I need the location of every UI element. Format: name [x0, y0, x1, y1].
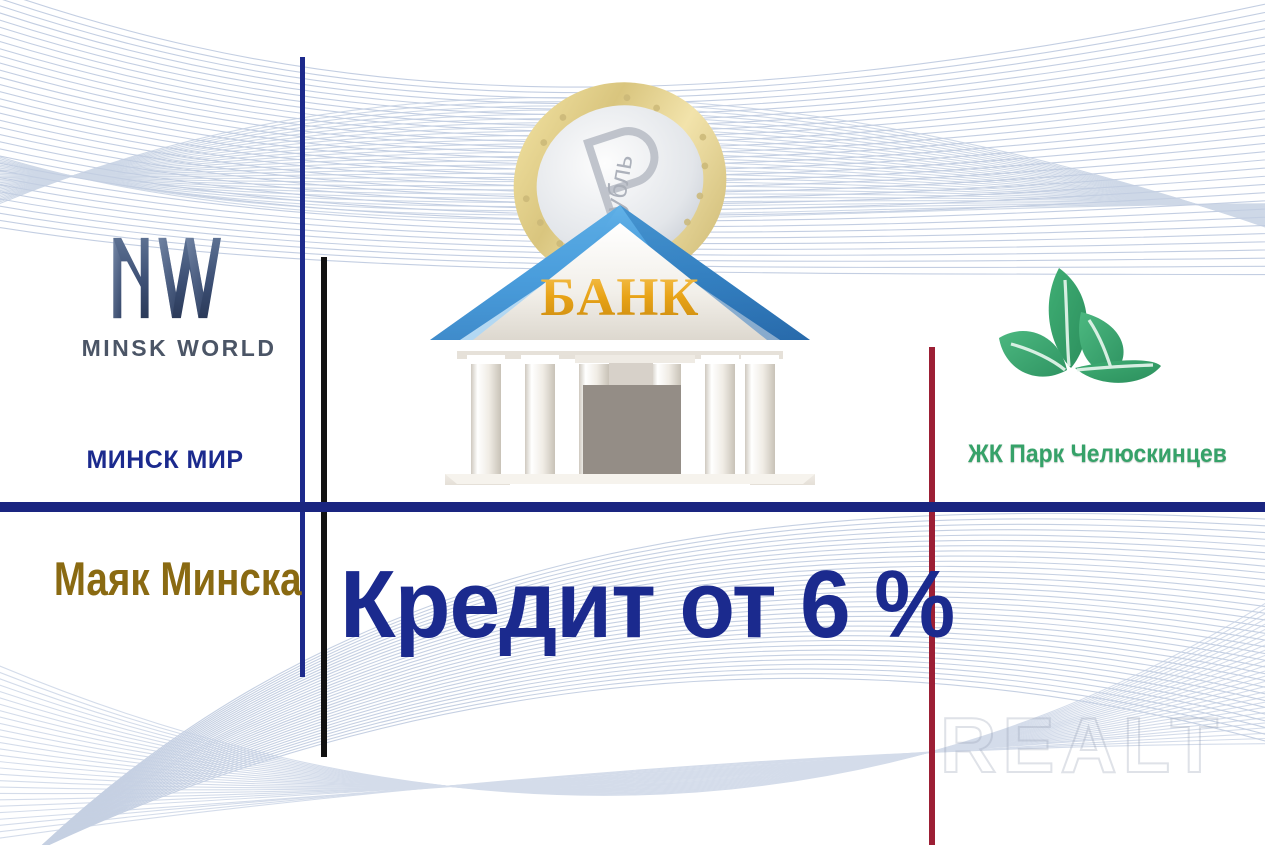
- minsk-world-mw-monogram-icon: [100, 232, 250, 322]
- park-chelyuskintsev-label: ЖК Парк Челюскинцев: [943, 440, 1251, 469]
- realt-watermark: REALT: [940, 700, 1224, 791]
- mayak-minska-label: Маяк Минска: [54, 551, 271, 606]
- bank-building-with-coin-icon: рубль БАНК: [415, 55, 845, 485]
- minsk-mir-label: МИНСК МИР: [40, 446, 290, 475]
- svg-text:БАНК: БАНК: [540, 267, 699, 327]
- divider-horizontal-blue: [0, 502, 1265, 512]
- promo-banner: REALT MINSK WORLD МИНСК МИР Маяк Минска: [0, 0, 1265, 845]
- green-leaf-plant-icon: [955, 250, 1185, 425]
- minsk-world-wordmark: MINSK WORLD: [54, 335, 304, 362]
- headline-credit-rate: Кредит от 6 %: [340, 556, 910, 654]
